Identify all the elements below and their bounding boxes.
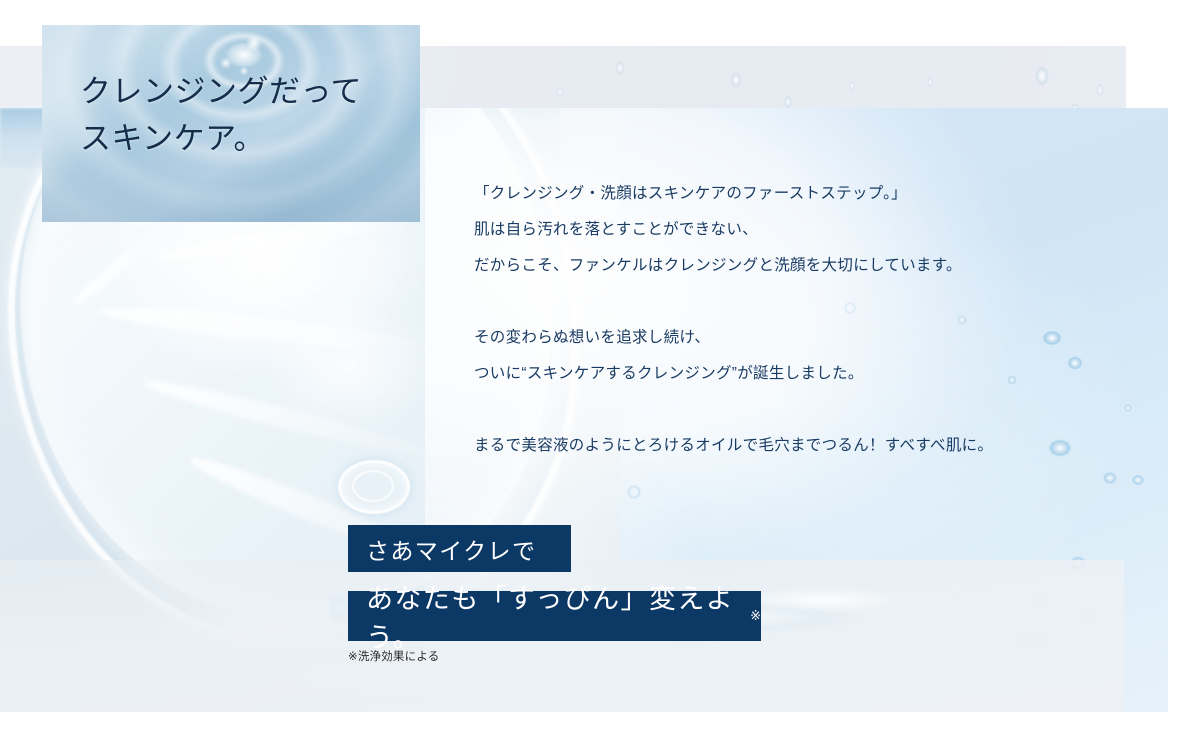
body-line: ついに“スキンケアするクレンジング”が誕生しました。: [474, 356, 1074, 392]
body-line: だからこそ、ファンケルはクレンジングと洗顔を大切にしています。: [474, 248, 1074, 284]
cta-banner-line-1: さあマイクレで: [348, 525, 571, 572]
body-paragraph-2: その変わらぬ想いを追求し続け、 ついに“スキンケアするクレンジング”が誕生しまし…: [474, 320, 1074, 392]
cta-banner-line-1-text: さあマイクレで: [366, 532, 536, 566]
hero-heading: クレンジングだって スキンケア。: [80, 68, 410, 162]
droplet-ripple-ring-inner: [352, 470, 394, 502]
cta-banner-line-2-text: あなたも「すっぴん」変えよう。: [366, 577, 750, 655]
hero-banner-stage: クレンジングだって スキンケア。 「クレンジング・洗顔はスキンケアのファーストス…: [0, 0, 1201, 732]
body-paragraph-3: まるで美容液のようにとろけるオイルで毛穴までつるん！すべすべ肌に。: [474, 428, 1074, 464]
body-paragraph-1: 「クレンジング・洗顔はスキンケアのファーストステップ。」 肌は自ら汚れを落とすこ…: [474, 176, 1074, 284]
body-line: 肌は自ら汚れを落とすことができない、: [474, 212, 1074, 248]
paragraph-gap: [474, 284, 1074, 320]
footnote-text: ※洗浄効果による: [348, 648, 439, 664]
cta-banner-footnote-mark: ※: [750, 608, 761, 624]
body-line: 「クレンジング・洗顔はスキンケアのファーストステップ。」: [474, 176, 1074, 212]
body-copy: 「クレンジング・洗顔はスキンケアのファーストステップ。」 肌は自ら汚れを落とすこ…: [474, 176, 1074, 464]
cta-banner-line-2: あなたも「すっぴん」変えよう。※: [348, 591, 761, 641]
body-line: その変わらぬ想いを追求し続け、: [474, 320, 1074, 356]
body-line: まるで美容液のようにとろけるオイルで毛穴までつるん！すべすべ肌に。: [474, 428, 1074, 464]
paragraph-gap: [474, 392, 1074, 428]
